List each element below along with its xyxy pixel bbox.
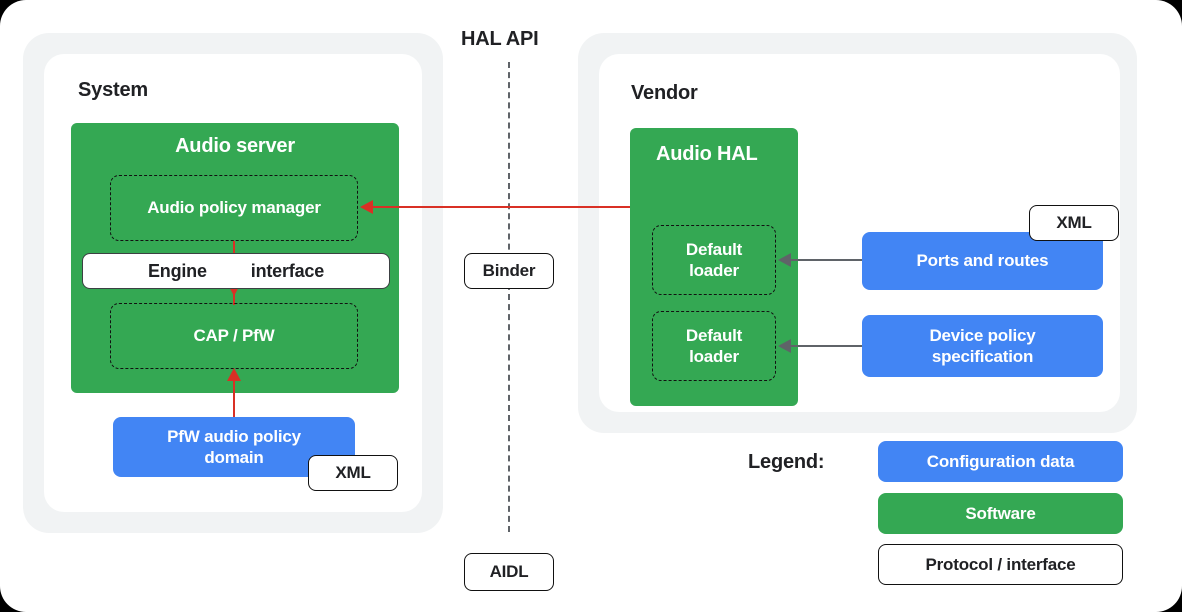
hal-to-apm-arrow-head	[360, 200, 373, 214]
device-policy-to-loader-arrow-line	[790, 345, 862, 347]
device-policy-line2: specification	[932, 346, 1033, 367]
default-loader-box-1: Default loader	[652, 225, 776, 295]
ports-to-loader-arrow-head	[778, 253, 791, 267]
default-loader-box-2: Default loader	[652, 311, 776, 381]
engine-interface-bar: Engine interface	[82, 253, 390, 289]
pfw-to-cap-arrow-head	[227, 368, 241, 381]
default-loader-2-line2: loader	[689, 346, 739, 367]
device-policy-to-loader-arrow-head	[778, 339, 791, 353]
pfw-xml-badge: XML	[308, 455, 398, 491]
binder-chip: Binder	[464, 253, 554, 289]
hal-to-apm-arrow-line	[372, 206, 630, 208]
default-loader-1-line1: Default	[686, 239, 742, 260]
device-policy-line1: Device policy	[929, 325, 1035, 346]
hal-api-label: HAL API	[461, 28, 539, 51]
cap-pfw-box: CAP / PfW	[110, 303, 358, 369]
pfw-to-cap-arrow-line	[233, 378, 235, 417]
aidl-chip: AIDL	[464, 553, 554, 591]
audio-server-title: Audio server	[71, 135, 399, 158]
engine-interface-left-label: Engine	[148, 261, 207, 282]
diagram-canvas: HAL API System Audio server Audio policy…	[0, 0, 1182, 612]
default-loader-2-line1: Default	[686, 325, 742, 346]
engine-interface-right-label: interface	[251, 261, 324, 282]
hal-api-divider	[508, 62, 510, 532]
system-panel-title: System	[78, 79, 148, 102]
ports-xml-badge: XML	[1029, 205, 1119, 241]
device-policy-specification-box: Device policy specification	[862, 315, 1103, 377]
vendor-panel-title: Vendor	[631, 82, 698, 105]
legend-item-configuration-data: Configuration data	[878, 441, 1123, 482]
legend-item-protocol-interface: Protocol / interface	[878, 544, 1123, 585]
default-loader-1-line2: loader	[689, 260, 739, 281]
pfw-audio-policy-domain-line1: PfW audio policy	[167, 426, 301, 447]
audio-policy-manager-box: Audio policy manager	[110, 175, 358, 241]
pfw-audio-policy-domain-line2: domain	[204, 447, 263, 468]
ports-to-loader-arrow-line	[790, 259, 862, 261]
legend-item-software: Software	[878, 493, 1123, 534]
legend-label: Legend:	[748, 451, 824, 474]
audio-hal-title: Audio HAL	[656, 143, 758, 166]
